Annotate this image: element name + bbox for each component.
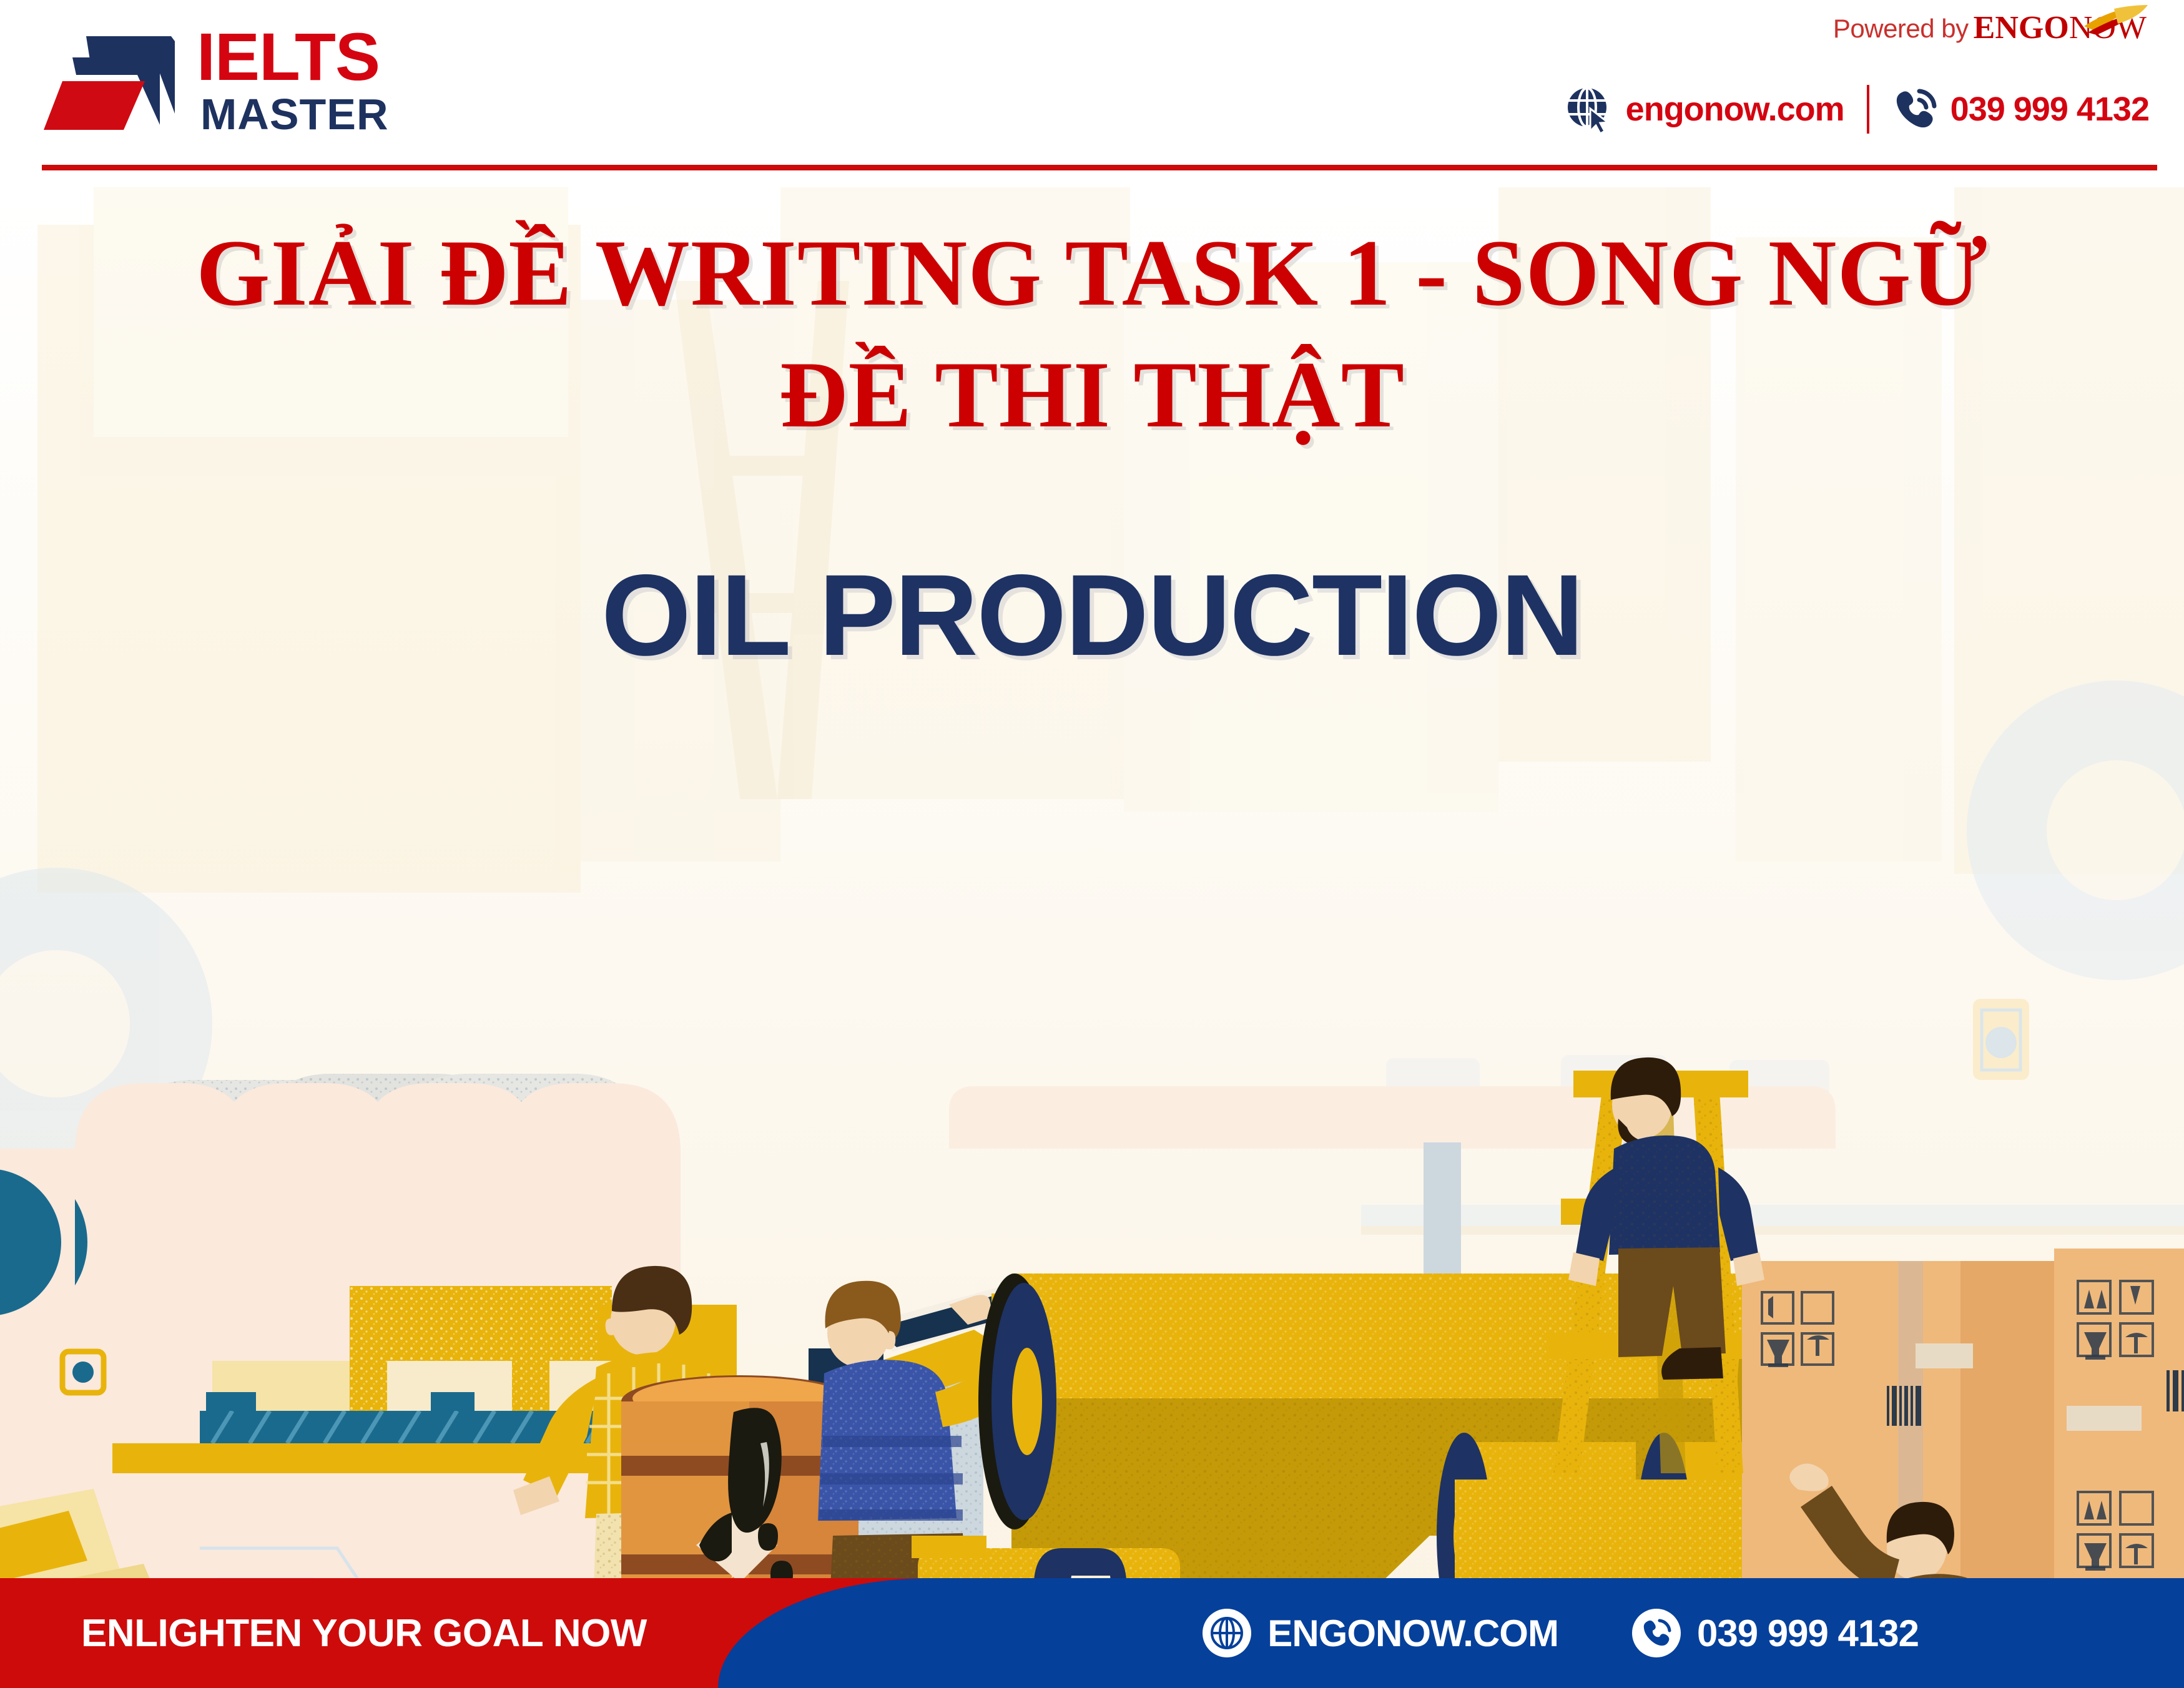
globe-icon — [1203, 1609, 1251, 1657]
footer-contacts: ENGONOW.COM 039 999 4132 — [1203, 1578, 1919, 1688]
brand-wordmark: IELTS MASTER — [197, 24, 446, 149]
footer-phone-text: 039 999 4132 — [1697, 1612, 1919, 1655]
contact-phone[interactable]: 039 999 4132 — [1892, 86, 2149, 132]
title-line-2: ĐỀ THI THẬT — [0, 334, 2184, 456]
footer-website[interactable]: ENGONOW.COM — [1203, 1609, 1558, 1657]
footer-phone[interactable]: 039 999 4132 — [1632, 1609, 1919, 1657]
page-header: IELTS MASTER Powered by ENGO NOW engonow… — [0, 0, 2184, 187]
powered-by-engonow: Powered by ENGO NOW — [1833, 14, 2147, 44]
website-text: engonow.com — [1626, 90, 1844, 129]
page-footer: ENLIGHTEN YOUR GOAL NOW ENGONOW.COM 039 — [0, 1578, 2184, 1688]
stacked-books-icon — [44, 25, 212, 144]
phone-text: 039 999 4132 — [1950, 90, 2149, 129]
contact-divider — [1867, 85, 1869, 134]
header-divider — [42, 165, 2157, 170]
subject-title: OIL PRODUCTION — [0, 549, 2184, 682]
phone-ring-icon — [1892, 86, 1938, 132]
contact-website[interactable]: engonow.com — [1565, 85, 1844, 134]
header-contact-row: engonow.com 039 999 4132 — [1565, 85, 2149, 134]
wall-gauge — [1973, 999, 2029, 1080]
brand-logo[interactable]: IELTS MASTER — [44, 11, 431, 149]
globe-cursor-icon — [1565, 85, 1613, 134]
phone-icon — [1632, 1609, 1681, 1657]
title-line-1: GIẢI ĐỀ WRITING TASK 1 - SONG NGỮ — [0, 212, 2184, 334]
footer-website-text: ENGONOW.COM — [1267, 1612, 1558, 1655]
powered-by-label: Powered by — [1833, 14, 1969, 44]
engonow-bold-part: ENGO — [1974, 14, 2069, 42]
brand-name-master: MASTER — [200, 92, 446, 136]
open-book-swoosh-icon — [2082, 5, 2150, 40]
main-title-block: GIẢI ĐỀ WRITING TASK 1 - SONG NGỮ ĐỀ THI… — [0, 212, 2184, 455]
footer-slogan: ENLIGHTEN YOUR GOAL NOW — [81, 1578, 647, 1688]
brand-name-ielts: IELTS — [197, 24, 446, 90]
